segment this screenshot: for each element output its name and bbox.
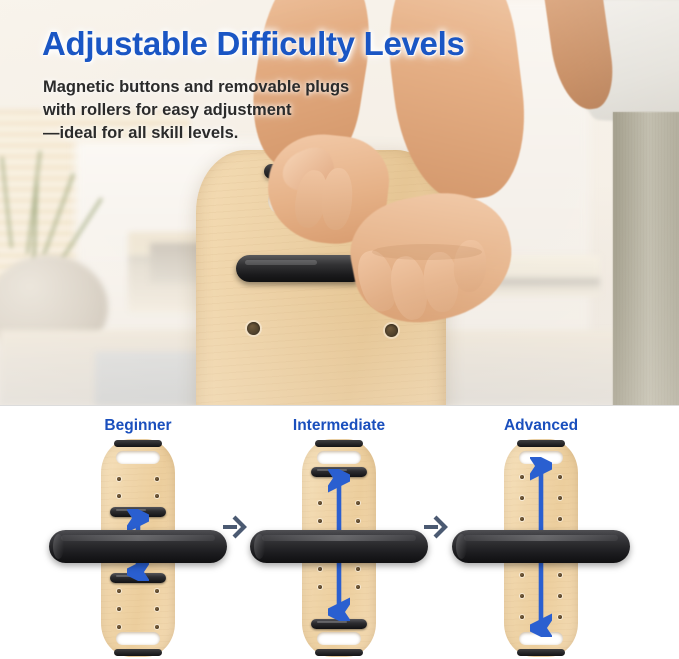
roller-beginner (49, 530, 227, 563)
level-title-beginner: Beginner (45, 417, 231, 435)
chevron-right-icon (418, 510, 452, 544)
roller-intermediate (250, 530, 428, 563)
difficulty-levels-panel: Beginner (0, 405, 679, 659)
hero-subtitle: Magnetic buttons and removable plugs wit… (43, 76, 349, 145)
level-card-advanced: Advanced (448, 406, 634, 659)
hero-subtitle-line: —ideal for all skill levels. (43, 122, 349, 145)
magnetic-plug-hole (247, 322, 260, 335)
roller-advanced (452, 530, 630, 563)
hero-subtitle-line: Magnetic buttons and removable plugs (43, 76, 349, 99)
level-title-advanced: Advanced (448, 417, 634, 435)
level-title-intermediate: Intermediate (246, 417, 432, 435)
page-title: Adjustable Difficulty Levels (42, 25, 465, 63)
person-trousers-shading (613, 112, 679, 405)
hero-section: Adjustable Difficulty Levels Magnetic bu… (0, 0, 679, 405)
hero-subtitle-line: with rollers for easy adjustment (43, 99, 349, 122)
level-card-beginner: Beginner (45, 406, 231, 659)
level-card-intermediate: Intermediate (246, 406, 432, 659)
magnetic-plug-hole (385, 324, 398, 337)
adjustable-stopper-bar (236, 255, 366, 282)
